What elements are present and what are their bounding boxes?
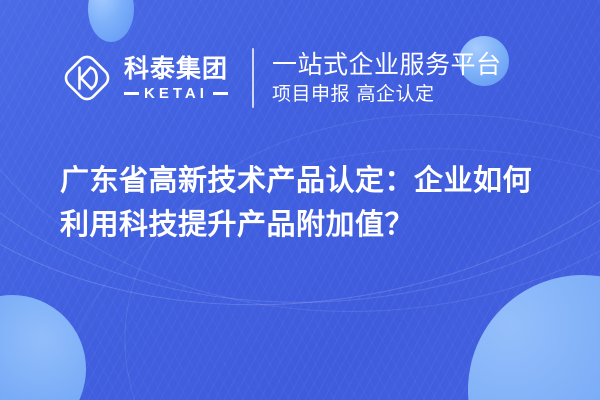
slogan-main: 一站式企业服务平台 — [272, 51, 502, 79]
slogan-block: 一站式企业服务平台 项目申报 高企认定 — [272, 51, 502, 105]
slogan-sub: 项目申报 高企认定 — [272, 84, 502, 105]
header-divider — [252, 48, 254, 108]
brand-name-en-row: KETAI — [124, 86, 228, 101]
brand-logo[interactable]: 科泰集团 KETAI — [60, 51, 228, 105]
brand-wordmark: 科泰集团 KETAI — [124, 56, 228, 101]
dash-left-icon — [124, 92, 139, 95]
banner-header: 科泰集团 KETAI 一站式企业服务平台 项目申报 高企认定 — [0, 42, 600, 114]
brand-name-en: KETAI — [144, 86, 208, 101]
dash-right-icon — [213, 92, 228, 95]
brand-name-cn: 科泰集团 — [124, 56, 228, 81]
promo-banner: 科泰集团 KETAI 一站式企业服务平台 项目申报 高企认定 广东省高新技术产品… — [0, 0, 600, 400]
page-title: 广东省高新技术产品认定：企业如何利用科技提升产品附加值？ — [60, 158, 550, 246]
ketai-monogram-kd-icon — [60, 51, 114, 105]
